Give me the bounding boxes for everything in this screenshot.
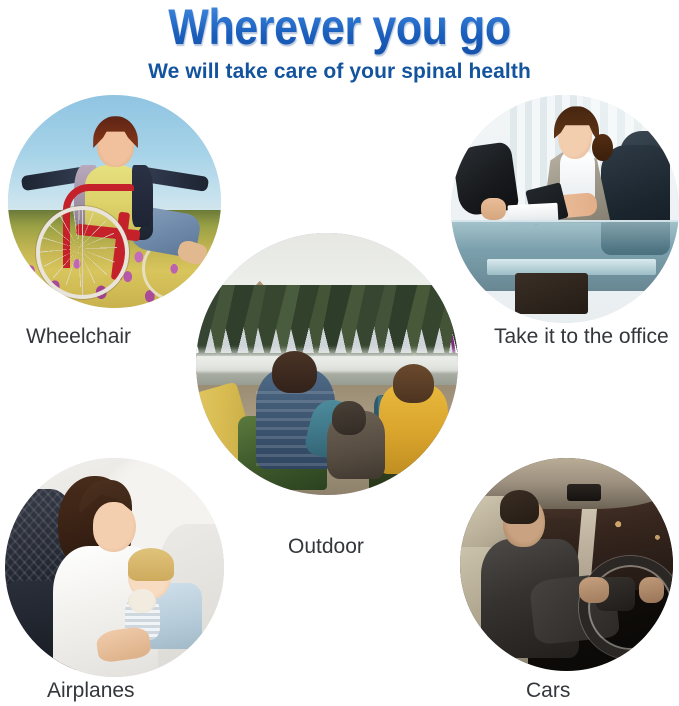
photo-circle-office (451, 95, 679, 323)
photo-circle-wheelchair (8, 95, 221, 308)
driver-hair (500, 490, 538, 524)
driver-hand-right (639, 577, 665, 603)
label-wheelchair: Wheelchair (26, 324, 131, 350)
photo-circle-outdoor (196, 233, 458, 495)
label-airplanes: Airplanes (47, 678, 135, 704)
hair-bun (592, 134, 613, 161)
label-cars: Cars (526, 678, 570, 704)
photo-circle-cars (460, 458, 673, 671)
page-subtitle: We will take care of your spinal health (0, 58, 679, 86)
toddler-hair (128, 548, 174, 581)
man-head (272, 351, 317, 393)
jacket-right (132, 165, 153, 227)
page-title: Wherever you go (48, 0, 632, 56)
table-base (515, 273, 588, 314)
rearview-mirror (567, 484, 601, 501)
label-office: Take it to the office (494, 324, 669, 350)
promo-graphic: Wherever you go We will take care of you… (0, 0, 679, 706)
scene-airplane (5, 458, 224, 677)
label-outdoor: Outdoor (288, 534, 364, 560)
woman-head (393, 364, 435, 403)
scene-office (451, 95, 679, 323)
scene-outdoor (196, 233, 458, 495)
photo-circle-airplanes (5, 458, 224, 677)
scene-wheelchair (8, 95, 221, 308)
front-wheel (36, 206, 129, 299)
scene-car (460, 458, 673, 671)
colleague-hand (481, 198, 506, 221)
dog-head (332, 401, 366, 435)
driver-hand-left (579, 577, 609, 603)
